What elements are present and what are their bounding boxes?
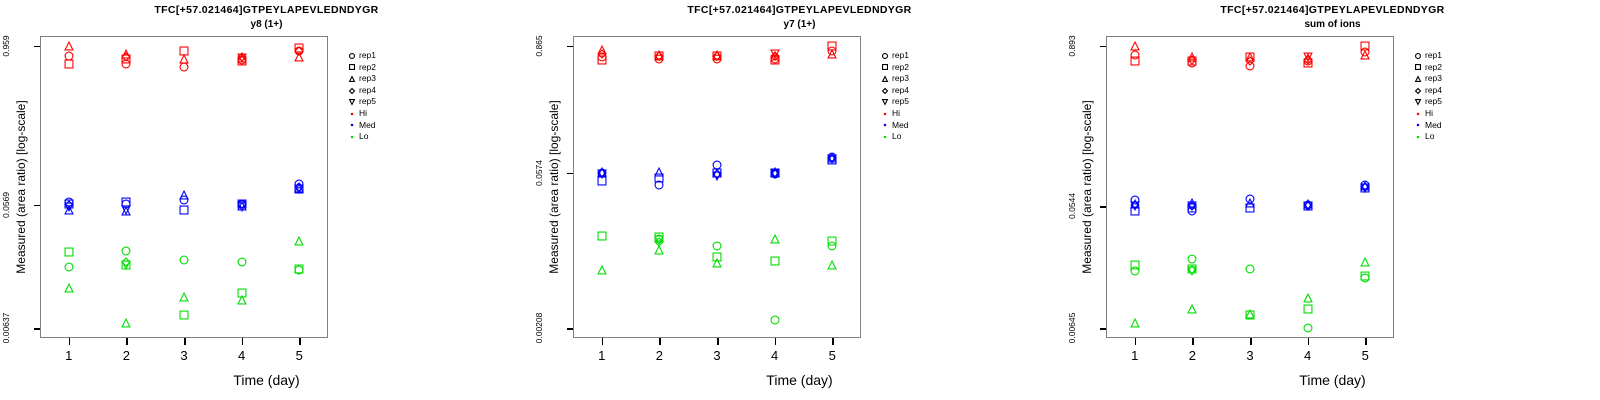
y-tick-label: 0.0574 [534,149,544,197]
data-point [597,231,606,240]
x-tick-label: 2 [123,348,130,363]
legend-label: rep3 [359,73,376,85]
chart-panel-3: TFC[+57.021464]GTPEYLAPEVLEDNDYGRsum of … [1066,0,1599,400]
legend-label: Med [359,120,376,132]
x-tick-mark [1365,338,1367,345]
data-point [1188,266,1197,275]
legend-item: Hi [1411,108,1442,120]
data-point [1130,319,1139,328]
legend-label: Med [1425,120,1442,132]
y-tick-mark [1100,206,1106,208]
circle-icon [1411,53,1425,59]
diamond-icon [345,88,359,94]
data-point [1361,272,1370,281]
data-point [1130,202,1139,211]
triangle-icon [1411,76,1425,82]
legend-item: rep3 [1411,73,1442,85]
data-point [655,235,664,244]
data-point [713,258,722,267]
panel-title: TFC[+57.021464]GTPEYLAPEVLEDNDYGR [0,4,533,17]
x-tick-mark [242,338,244,345]
legend: rep1rep2rep3rep4rep5HiMedLo [1411,50,1442,143]
data-point [1361,183,1370,192]
data-point [1303,201,1312,210]
y-tick-label: 0.865 [534,22,544,70]
x-tick-mark [299,338,301,345]
x-tick-label: 4 [238,348,245,363]
data-point [64,203,73,212]
x-tick-label: 3 [1246,348,1253,363]
data-point [713,242,722,251]
x-tick-mark [1135,338,1137,345]
data-point [64,283,73,292]
data-point [1188,255,1197,264]
y-tick-mark [567,46,573,48]
x-tick-label: 3 [180,348,187,363]
dot-icon [1411,122,1425,128]
legend-label: rep3 [892,73,909,85]
data-point [1361,257,1370,266]
legend-item: rep4 [878,85,909,97]
data-point [1303,293,1312,302]
y-tick-label: 0.959 [1,22,11,70]
legend-label: Lo [359,131,368,143]
data-point [180,62,189,71]
chart-panel-1: TFC[+57.021464]GTPEYLAPEVLEDNDYGRy8 (1+)… [0,0,533,400]
data-point [180,311,189,320]
triangle-down-icon [878,99,892,105]
legend: rep1rep2rep3rep4rep5HiMedLo [878,50,909,143]
diamond-icon [1411,88,1425,94]
x-tick-label: 1 [65,348,72,363]
data-point [1188,305,1197,314]
x-tick-label: 1 [598,348,605,363]
legend-label: rep5 [1425,96,1442,108]
legend-item: rep2 [878,62,909,74]
data-point [122,318,131,327]
legend-label: rep5 [359,96,376,108]
y-tick-mark [34,328,40,330]
data-point [770,170,779,179]
y-tick-mark [567,328,573,330]
diamond-icon [878,88,892,94]
x-tick-label: 5 [296,348,303,363]
triangle-icon [878,76,892,82]
panel-subtitle: y7 (1+) [533,18,1066,31]
y-tick-mark [1100,328,1106,330]
x-tick-mark [69,338,71,345]
data-point [1130,41,1139,50]
legend-item: rep5 [345,96,376,108]
x-tick-mark [126,338,128,345]
legend-label: rep2 [892,62,909,74]
x-tick-mark [775,338,777,345]
legend-item: Hi [345,108,376,120]
legend-item: rep5 [878,96,909,108]
y-tick-label: 0.00637 [1,304,11,352]
x-tick-mark [602,338,604,345]
x-tick-label: 5 [1362,348,1369,363]
data-point [655,51,664,60]
data-point [295,265,304,274]
data-point [180,255,189,264]
square-icon [878,64,892,70]
data-point [1361,41,1370,50]
x-tick-label: 4 [1304,348,1311,363]
circle-icon [878,53,892,59]
data-point [597,169,606,178]
x-tick-mark [1308,338,1310,345]
legend-label: Lo [892,131,901,143]
data-point [64,248,73,257]
x-tick-mark [659,338,661,345]
legend-label: Hi [359,108,367,120]
data-point [1303,305,1312,314]
data-point [64,262,73,271]
y-tick-label: 0.0569 [1,181,11,229]
data-point [295,185,304,194]
legend-item: rep4 [1411,85,1442,97]
legend-item: Med [345,120,376,132]
dot-icon [345,111,359,117]
data-point [828,49,837,58]
legend-item: rep2 [345,62,376,74]
panel-subtitle: y8 (1+) [0,18,533,31]
data-point [1246,309,1255,318]
square-icon [1411,64,1425,70]
y-tick-mark [34,205,40,207]
legend-item: rep3 [345,73,376,85]
legend-item: rep2 [1411,62,1442,74]
data-point [597,266,606,275]
data-point [1246,199,1255,208]
legend-label: rep3 [1425,73,1442,85]
legend-label: rep2 [1425,62,1442,74]
panel-title: TFC[+57.021464]GTPEYLAPEVLEDNDYGR [533,4,1066,17]
data-point [1130,260,1139,269]
y-tick-mark [567,173,573,175]
legend-item: rep5 [1411,96,1442,108]
legend-item: rep1 [1411,50,1442,62]
data-point [828,261,837,270]
data-point [295,236,304,245]
data-point [713,171,722,180]
x-tick-label: 1 [1131,348,1138,363]
panel-title-block: TFC[+57.021464]GTPEYLAPEVLEDNDYGRy7 (1+) [533,4,1066,31]
legend-item: Lo [345,131,376,143]
data-point [1303,53,1312,62]
legend-label: rep1 [892,50,909,62]
data-point [770,234,779,243]
x-axis-label: Time (day) [533,372,1066,388]
legend-item: Med [878,120,909,132]
legend-label: rep4 [892,85,909,97]
y-tick-label: 0.0544 [1067,182,1077,230]
data-point [122,205,131,214]
legend-label: rep5 [892,96,909,108]
data-point [1246,265,1255,274]
legend-label: Lo [1425,131,1434,143]
data-point [180,190,189,199]
data-point [597,50,606,59]
x-tick-mark [184,338,186,345]
x-tick-mark [832,338,834,345]
triangle-down-icon [1411,99,1425,105]
x-tick-label: 5 [829,348,836,363]
data-point [1361,51,1370,60]
data-point [180,205,189,214]
data-point [1188,55,1197,64]
x-tick-label: 3 [713,348,720,363]
x-axis-label: Time (day) [0,372,533,388]
data-point [1246,56,1255,65]
x-tick-mark [1250,338,1252,345]
data-point [1130,56,1139,65]
data-point [770,315,779,324]
legend-label: rep2 [359,62,376,74]
data-point [237,53,246,62]
data-point [713,52,722,61]
dot-icon [878,111,892,117]
legend-item: rep1 [878,50,909,62]
y-tick-label: 0.00645 [1067,304,1077,352]
x-tick-label: 4 [771,348,778,363]
y-axis-label: Measured (area ratio) [log-scale] [547,36,561,338]
panel-title: TFC[+57.021464]GTPEYLAPEVLEDNDYGR [1066,4,1599,17]
panel-title-block: TFC[+57.021464]GTPEYLAPEVLEDNDYGRsum of … [1066,4,1599,31]
data-point [122,260,131,269]
legend-label: Med [892,120,909,132]
y-tick-label: 0.00208 [534,304,544,352]
scatter-plot-figure: TFC[+57.021464]GTPEYLAPEVLEDNDYGRy8 (1+)… [0,0,1600,400]
data-point [122,52,131,61]
panel-title-block: TFC[+57.021464]GTPEYLAPEVLEDNDYGRy8 (1+) [0,4,533,31]
x-tick-mark [1192,338,1194,345]
triangle-down-icon [345,99,359,105]
plot-area [573,36,861,338]
legend-item: Hi [878,108,909,120]
data-point [1188,202,1197,211]
legend-label: rep4 [1425,85,1442,97]
legend-item: Med [1411,120,1442,132]
chart-panel-2: TFC[+57.021464]GTPEYLAPEVLEDNDYGRy7 (1+)… [533,0,1066,400]
data-point [64,41,73,50]
data-point [295,46,304,55]
x-axis-label: Time (day) [1066,372,1599,388]
circle-icon [345,53,359,59]
data-point [770,256,779,265]
y-axis-label: Measured (area ratio) [log-scale] [1080,36,1094,338]
data-point [828,236,837,245]
y-axis-label: Measured (area ratio) [log-scale] [14,36,28,338]
panel-subtitle: sum of ions [1066,18,1599,31]
y-tick-mark [1100,46,1106,48]
legend-item: rep1 [345,50,376,62]
dot-icon [1411,134,1425,140]
legend-item: Lo [1411,131,1442,143]
data-point [122,247,131,256]
data-point [770,49,779,58]
data-point [64,59,73,68]
data-point [655,167,664,176]
dot-icon [345,122,359,128]
data-point [237,258,246,267]
data-point [1303,323,1312,332]
legend-item: rep3 [878,73,909,85]
legend-label: Hi [892,108,900,120]
dot-icon [878,134,892,140]
x-tick-mark [717,338,719,345]
legend-label: rep4 [359,85,376,97]
legend-label: rep1 [359,50,376,62]
dot-icon [1411,111,1425,117]
legend-label: Hi [1425,108,1433,120]
x-tick-label: 2 [1189,348,1196,363]
data-point [180,293,189,302]
legend-item: Lo [878,131,909,143]
y-tick-mark [34,46,40,48]
triangle-icon [345,76,359,82]
square-icon [345,64,359,70]
legend-label: rep1 [1425,50,1442,62]
y-tick-label: 0.893 [1067,22,1077,70]
legend: rep1rep2rep3rep4rep5HiMedLo [345,50,376,143]
legend-item: rep4 [345,85,376,97]
data-point [180,54,189,63]
plot-area [1106,36,1394,338]
x-tick-label: 2 [656,348,663,363]
dot-icon [878,122,892,128]
data-point [237,202,246,211]
dot-icon [345,134,359,140]
data-point [828,155,837,164]
data-point [237,295,246,304]
